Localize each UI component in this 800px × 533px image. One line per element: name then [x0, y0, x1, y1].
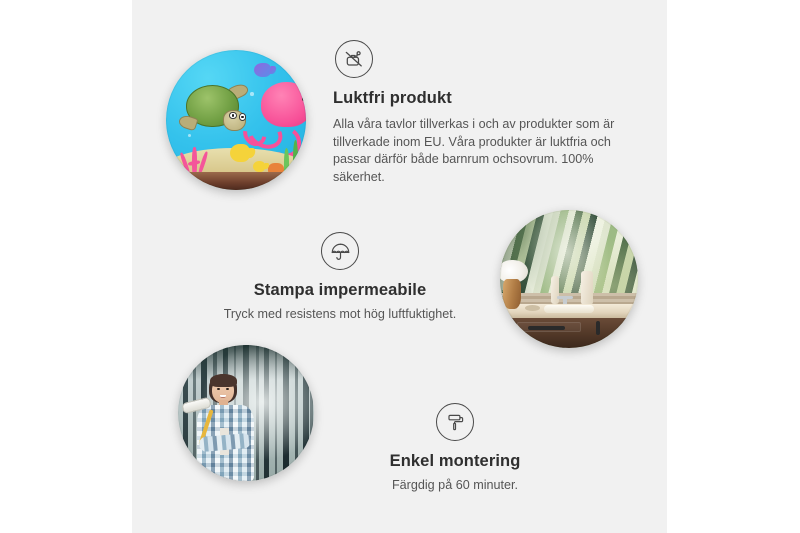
sea-foreground-rock: [166, 172, 306, 190]
soap-bottle: [581, 271, 593, 306]
feature-text-easy-mounting: Enkel montering Färgdig på 60 minuter.: [330, 403, 580, 495]
feature-title-waterproof: Stampa impermeabile: [210, 280, 470, 301]
blue-fish-icon: [254, 63, 271, 77]
underwater-artwork: [166, 50, 306, 190]
photo-bathroom-leaf-wallpaper: [500, 210, 638, 348]
feature-text-odourless: Luktfri produkt Alla våra tavlor tillver…: [333, 40, 629, 187]
sink-basin: [544, 305, 594, 313]
yellow-fish-icon: [230, 144, 250, 162]
feature-text-waterproof: Stampa impermeabile Tryck med resistens …: [210, 232, 470, 324]
soap-bottle: [551, 276, 559, 304]
vase: [503, 279, 521, 309]
bathroom-artwork: [500, 210, 638, 348]
forest-artwork: [178, 345, 314, 481]
drawer-handle: [528, 326, 565, 330]
feature-title-easy-mounting: Enkel montering: [330, 451, 580, 472]
feature-body-waterproof: Tryck med resistens mot hög luftfuktighe…: [210, 306, 470, 324]
photo-forest-mural-installer: [178, 345, 314, 481]
bubble-icon: [250, 92, 254, 96]
feature-title-odourless: Luktfri produkt: [333, 88, 629, 109]
infographic-canvas: Luktfri produkt Alla våra tavlor tillver…: [0, 0, 800, 533]
photo-underwater-scene: [166, 50, 306, 190]
no-fragrance-icon: [335, 40, 373, 78]
yellow-fish-icon: [253, 161, 266, 172]
cabinet-handle: [596, 321, 600, 334]
hair-fringe: [210, 374, 237, 387]
octopus-eye: [302, 97, 306, 101]
wooden-vanity: [508, 318, 638, 348]
paint-roller-icon: [436, 403, 474, 441]
woman-figure: [183, 372, 267, 481]
umbrella-icon: [321, 232, 359, 270]
turtle-eye: [239, 113, 247, 121]
feature-body-odourless: Alla våra tavlor tillverkas i och av pro…: [333, 116, 625, 188]
turtle-eye: [229, 112, 237, 120]
feature-body-easy-mounting: Färgdig på 60 minuter.: [330, 477, 580, 495]
seaweed-icon: [293, 140, 298, 176]
